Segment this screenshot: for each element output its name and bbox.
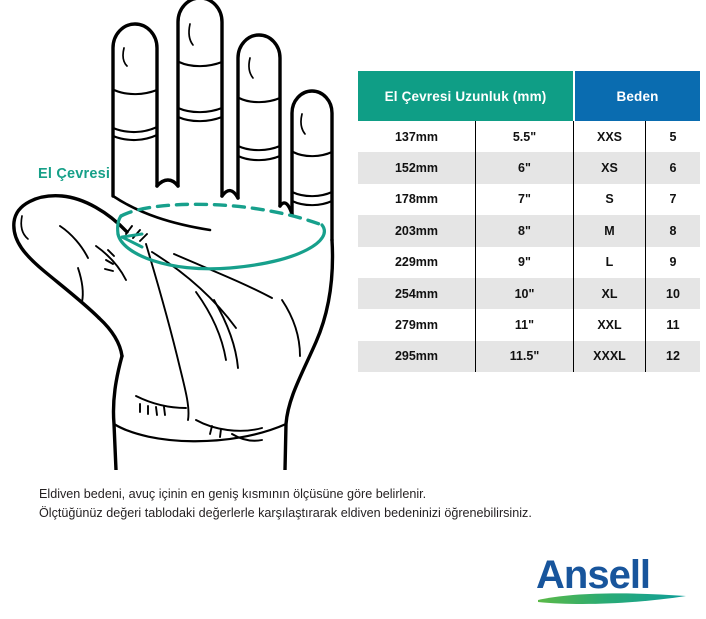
hand-circumference-label: El Çevresi (38, 166, 110, 182)
cell-mm: 152mm (358, 152, 475, 183)
table-row: 152mm 6" XS 6 (358, 152, 700, 183)
table-row: 178mm 7" S 7 (358, 184, 700, 215)
cell-mm: 203mm (358, 215, 475, 246)
instructions-note: Eldiven bedeni, avuç içinin en geniş kıs… (39, 485, 669, 523)
cell-number: 6 (645, 152, 700, 183)
instructions-line-1: Eldiven bedeni, avuç içinin en geniş kıs… (39, 485, 669, 504)
cell-number: 12 (645, 341, 700, 372)
table-row: 203mm 8" M 8 (358, 215, 700, 246)
cell-number: 5 (645, 121, 700, 152)
cell-letter: XXS (573, 121, 645, 152)
cell-letter: L (573, 247, 645, 278)
cell-inch: 11.5" (475, 341, 573, 372)
cell-number: 10 (645, 278, 700, 309)
cell-mm: 137mm (358, 121, 475, 152)
column-header-measurement: El Çevresi Uzunluk (mm) (358, 71, 573, 121)
table-row: 279mm 11" XXL 11 (358, 309, 700, 340)
ansell-wordmark: Ansell (536, 553, 650, 597)
glove-size-table: El Çevresi Uzunluk (mm) Beden 137mm 5.5"… (358, 71, 700, 372)
cell-inch: 7" (475, 184, 573, 215)
table-row: 295mm 11.5" XXXL 12 (358, 341, 700, 372)
cell-letter: XXL (573, 309, 645, 340)
cell-mm: 254mm (358, 278, 475, 309)
cell-inch: 10" (475, 278, 573, 309)
cell-mm: 229mm (358, 247, 475, 278)
table-body: 137mm 5.5" XXS 5 152mm 6" XS 6 178mm 7" … (358, 121, 700, 372)
table-row: 137mm 5.5" XXS 5 (358, 121, 700, 152)
cell-number: 9 (645, 247, 700, 278)
cell-letter: S (573, 184, 645, 215)
cell-letter: XL (573, 278, 645, 309)
table-header-row: El Çevresi Uzunluk (mm) Beden (358, 71, 700, 121)
instructions-line-2: Ölçtüğünüz değeri tablodaki değerlerle k… (39, 504, 669, 523)
cell-inch: 6" (475, 152, 573, 183)
cell-number: 11 (645, 309, 700, 340)
cell-mm: 279mm (358, 309, 475, 340)
cell-mm: 295mm (358, 341, 475, 372)
cell-inch: 11" (475, 309, 573, 340)
column-header-size: Beden (575, 71, 700, 121)
cell-letter: M (573, 215, 645, 246)
cell-number: 8 (645, 215, 700, 246)
cell-inch: 5.5" (475, 121, 573, 152)
table-row: 229mm 9" L 9 (358, 247, 700, 278)
cell-number: 7 (645, 184, 700, 215)
table-row: 254mm 10" XL 10 (358, 278, 700, 309)
cell-mm: 178mm (358, 184, 475, 215)
hand-illustration (0, 0, 350, 470)
cell-inch: 8" (475, 215, 573, 246)
size-chart-page: El Çevresi El Çevresi Uzunluk (mm) Beden… (0, 0, 706, 619)
cell-letter: XXXL (573, 341, 645, 372)
cell-letter: XS (573, 152, 645, 183)
ansell-logo: Ansell (534, 552, 690, 608)
cell-inch: 9" (475, 247, 573, 278)
